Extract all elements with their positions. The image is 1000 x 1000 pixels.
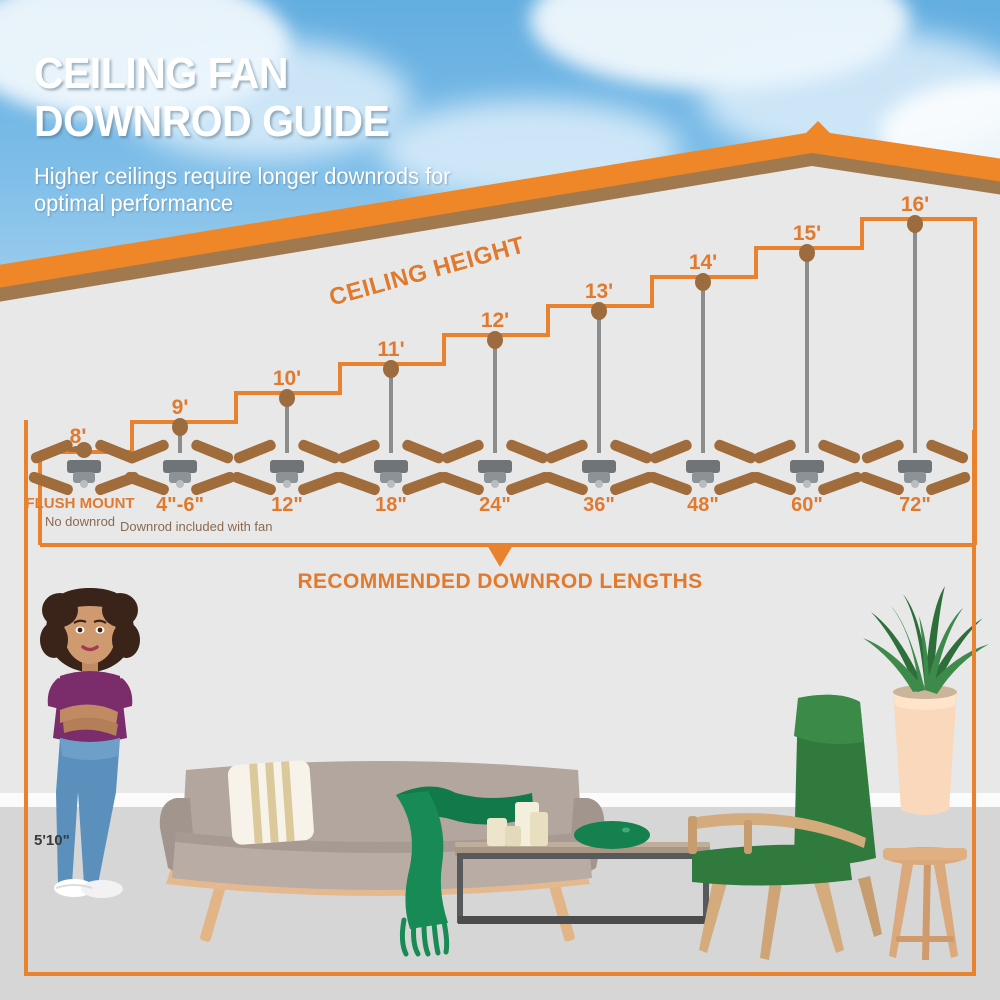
person-figure bbox=[40, 588, 140, 898]
downrod-label-48: 48" bbox=[687, 494, 719, 517]
downrod-label-9ft: 4"-6" Downrod included with fan bbox=[120, 494, 240, 534]
ceiling-height-9: 9' bbox=[172, 396, 189, 420]
canopy-13ft bbox=[591, 302, 607, 320]
canopy-12ft bbox=[487, 331, 503, 349]
ceiling-height-12: 12' bbox=[481, 309, 509, 333]
infographic-canvas: CEILING FAN DOWNROD GUIDE Higher ceiling… bbox=[0, 0, 1000, 1000]
downrod-label-36: 36" bbox=[583, 494, 615, 517]
lounge-chair bbox=[688, 695, 882, 960]
person-height-label: 5'10" bbox=[34, 832, 70, 849]
ceiling-height-15: 15' bbox=[793, 222, 821, 246]
canopy-10ft bbox=[279, 389, 295, 407]
downrod-label-sub: Downrod included with fan bbox=[120, 519, 240, 534]
measure-arrow-icon bbox=[487, 545, 513, 567]
canopy-9ft bbox=[172, 418, 188, 436]
downrod-label-main: FLUSH MOUNT bbox=[25, 495, 134, 512]
downrod-label-main: 36" bbox=[583, 494, 615, 516]
potted-plant bbox=[863, 586, 989, 815]
downrod-label-main: 18" bbox=[375, 494, 407, 516]
downrod-label-main: 4"-6" bbox=[156, 494, 204, 516]
downrod-label-main: 24" bbox=[479, 494, 511, 516]
downrod-label-main: 60" bbox=[791, 494, 823, 516]
downrod-label-18: 18" bbox=[375, 494, 407, 517]
downrod-label-12: 12" bbox=[271, 494, 303, 517]
canopy-11ft bbox=[383, 360, 399, 378]
ceiling-height-14: 14' bbox=[689, 251, 717, 275]
ceiling-height-11: 11' bbox=[377, 338, 404, 362]
ceiling-height-16: 16' bbox=[901, 193, 929, 217]
downrod-label-72: 72" bbox=[899, 494, 931, 517]
ceiling-fan-row bbox=[27, 438, 971, 496]
downrod-label-main: 12" bbox=[271, 494, 303, 516]
room-scene bbox=[0, 580, 1000, 1000]
downrod-label-main: 72" bbox=[899, 494, 931, 516]
canopy-16ft bbox=[907, 215, 923, 233]
ceiling-height-13: 13' bbox=[585, 280, 613, 304]
downrod-label-flush: FLUSH MOUNT No downrod bbox=[25, 495, 134, 529]
ceiling-height-10: 10' bbox=[273, 367, 301, 391]
sofa-pillow bbox=[227, 760, 314, 846]
downrod-label-60: 60" bbox=[791, 494, 823, 517]
downrod-label-sub: No downrod bbox=[25, 514, 134, 529]
canopy-15ft bbox=[799, 244, 815, 262]
canopy-14ft bbox=[695, 273, 711, 291]
decor-dish bbox=[574, 821, 650, 849]
plant-stand bbox=[883, 847, 967, 960]
downrod-label-24: 24" bbox=[479, 494, 511, 517]
downrod-label-main: 48" bbox=[687, 494, 719, 516]
ceiling-height-8: 8' bbox=[70, 425, 87, 449]
